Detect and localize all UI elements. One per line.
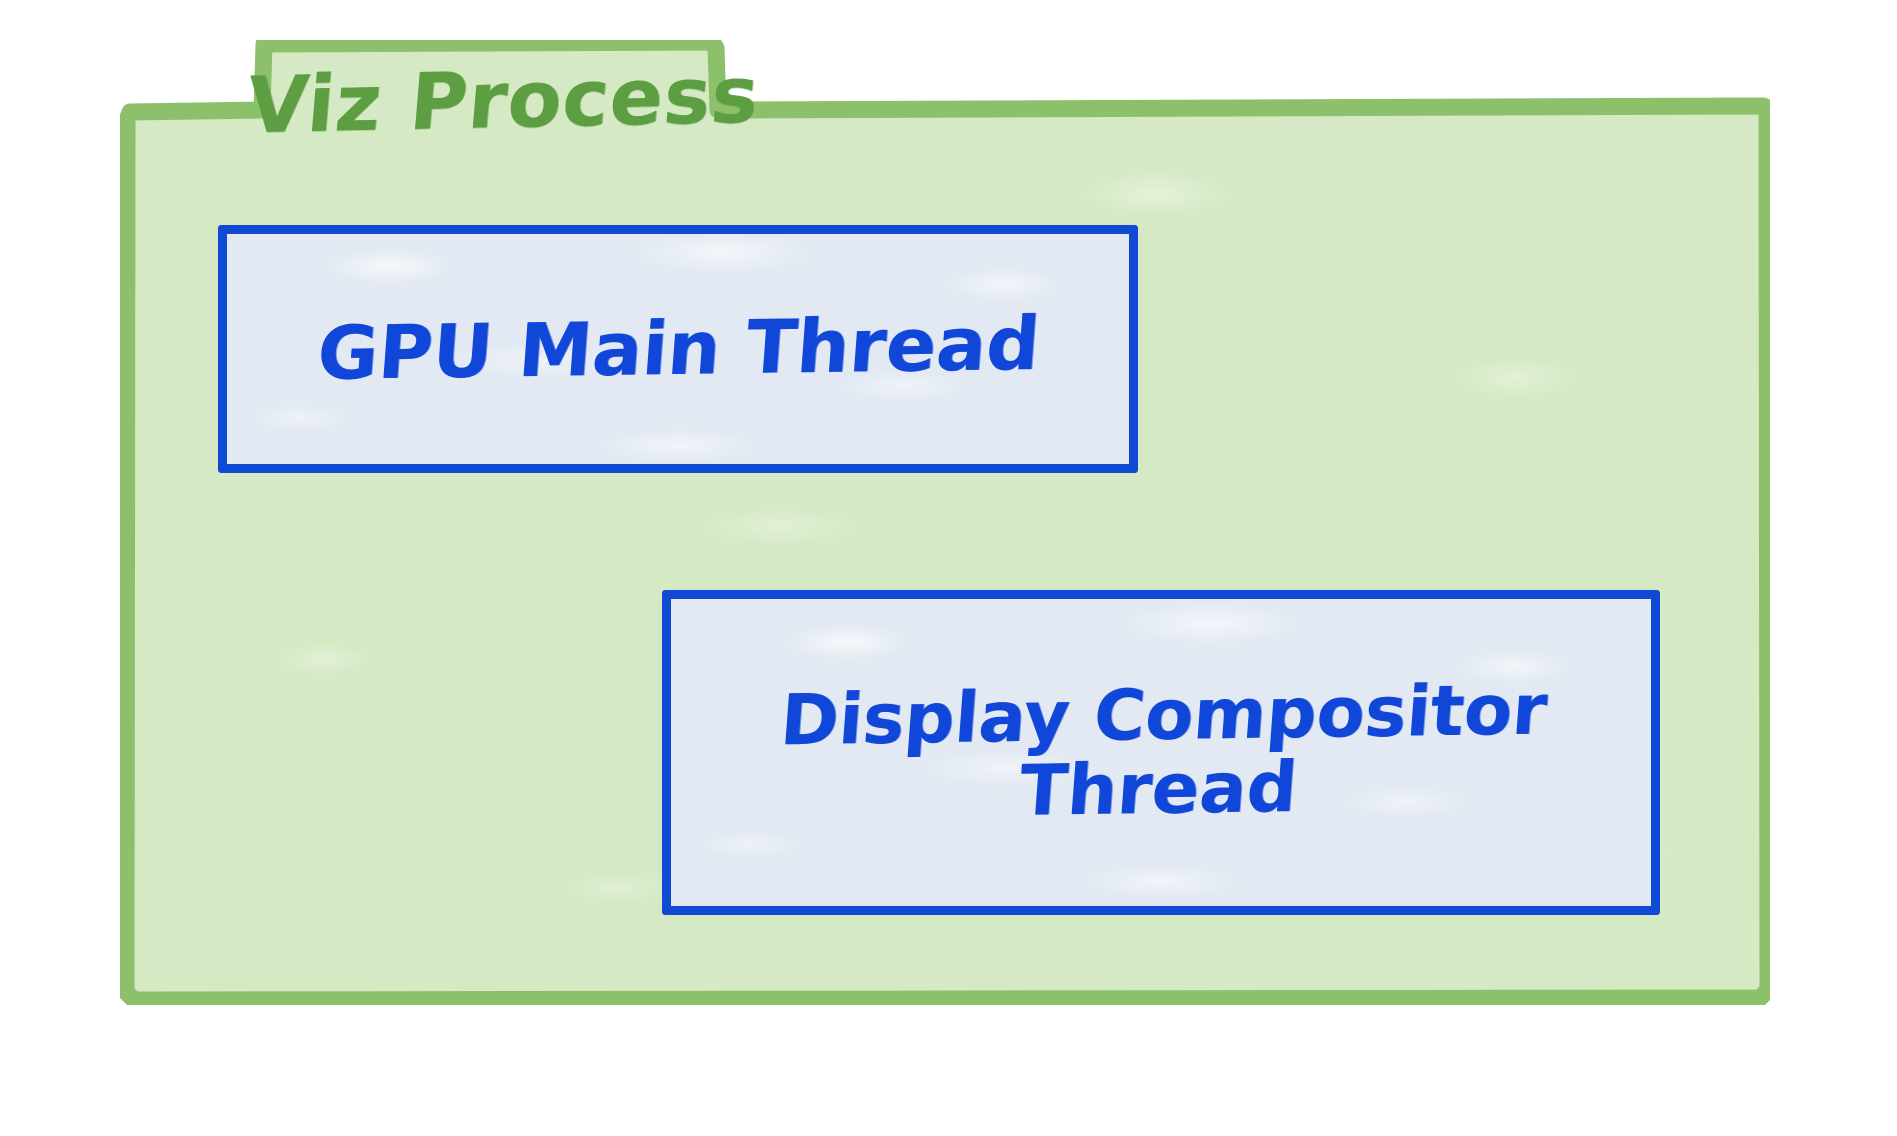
diagram-canvas: Viz Process GPU Main Thread Display Comp… — [0, 0, 1897, 1136]
package-title: Viz Process — [244, 57, 762, 146]
gpu-main-thread-label: GPU Main Thread — [302, 307, 1053, 391]
display-compositor-thread-label: Display Compositor Thread — [753, 673, 1569, 831]
gpu-main-thread-box[interactable]: GPU Main Thread — [218, 225, 1138, 473]
display-compositor-thread-box[interactable]: Display Compositor Thread — [662, 590, 1660, 915]
